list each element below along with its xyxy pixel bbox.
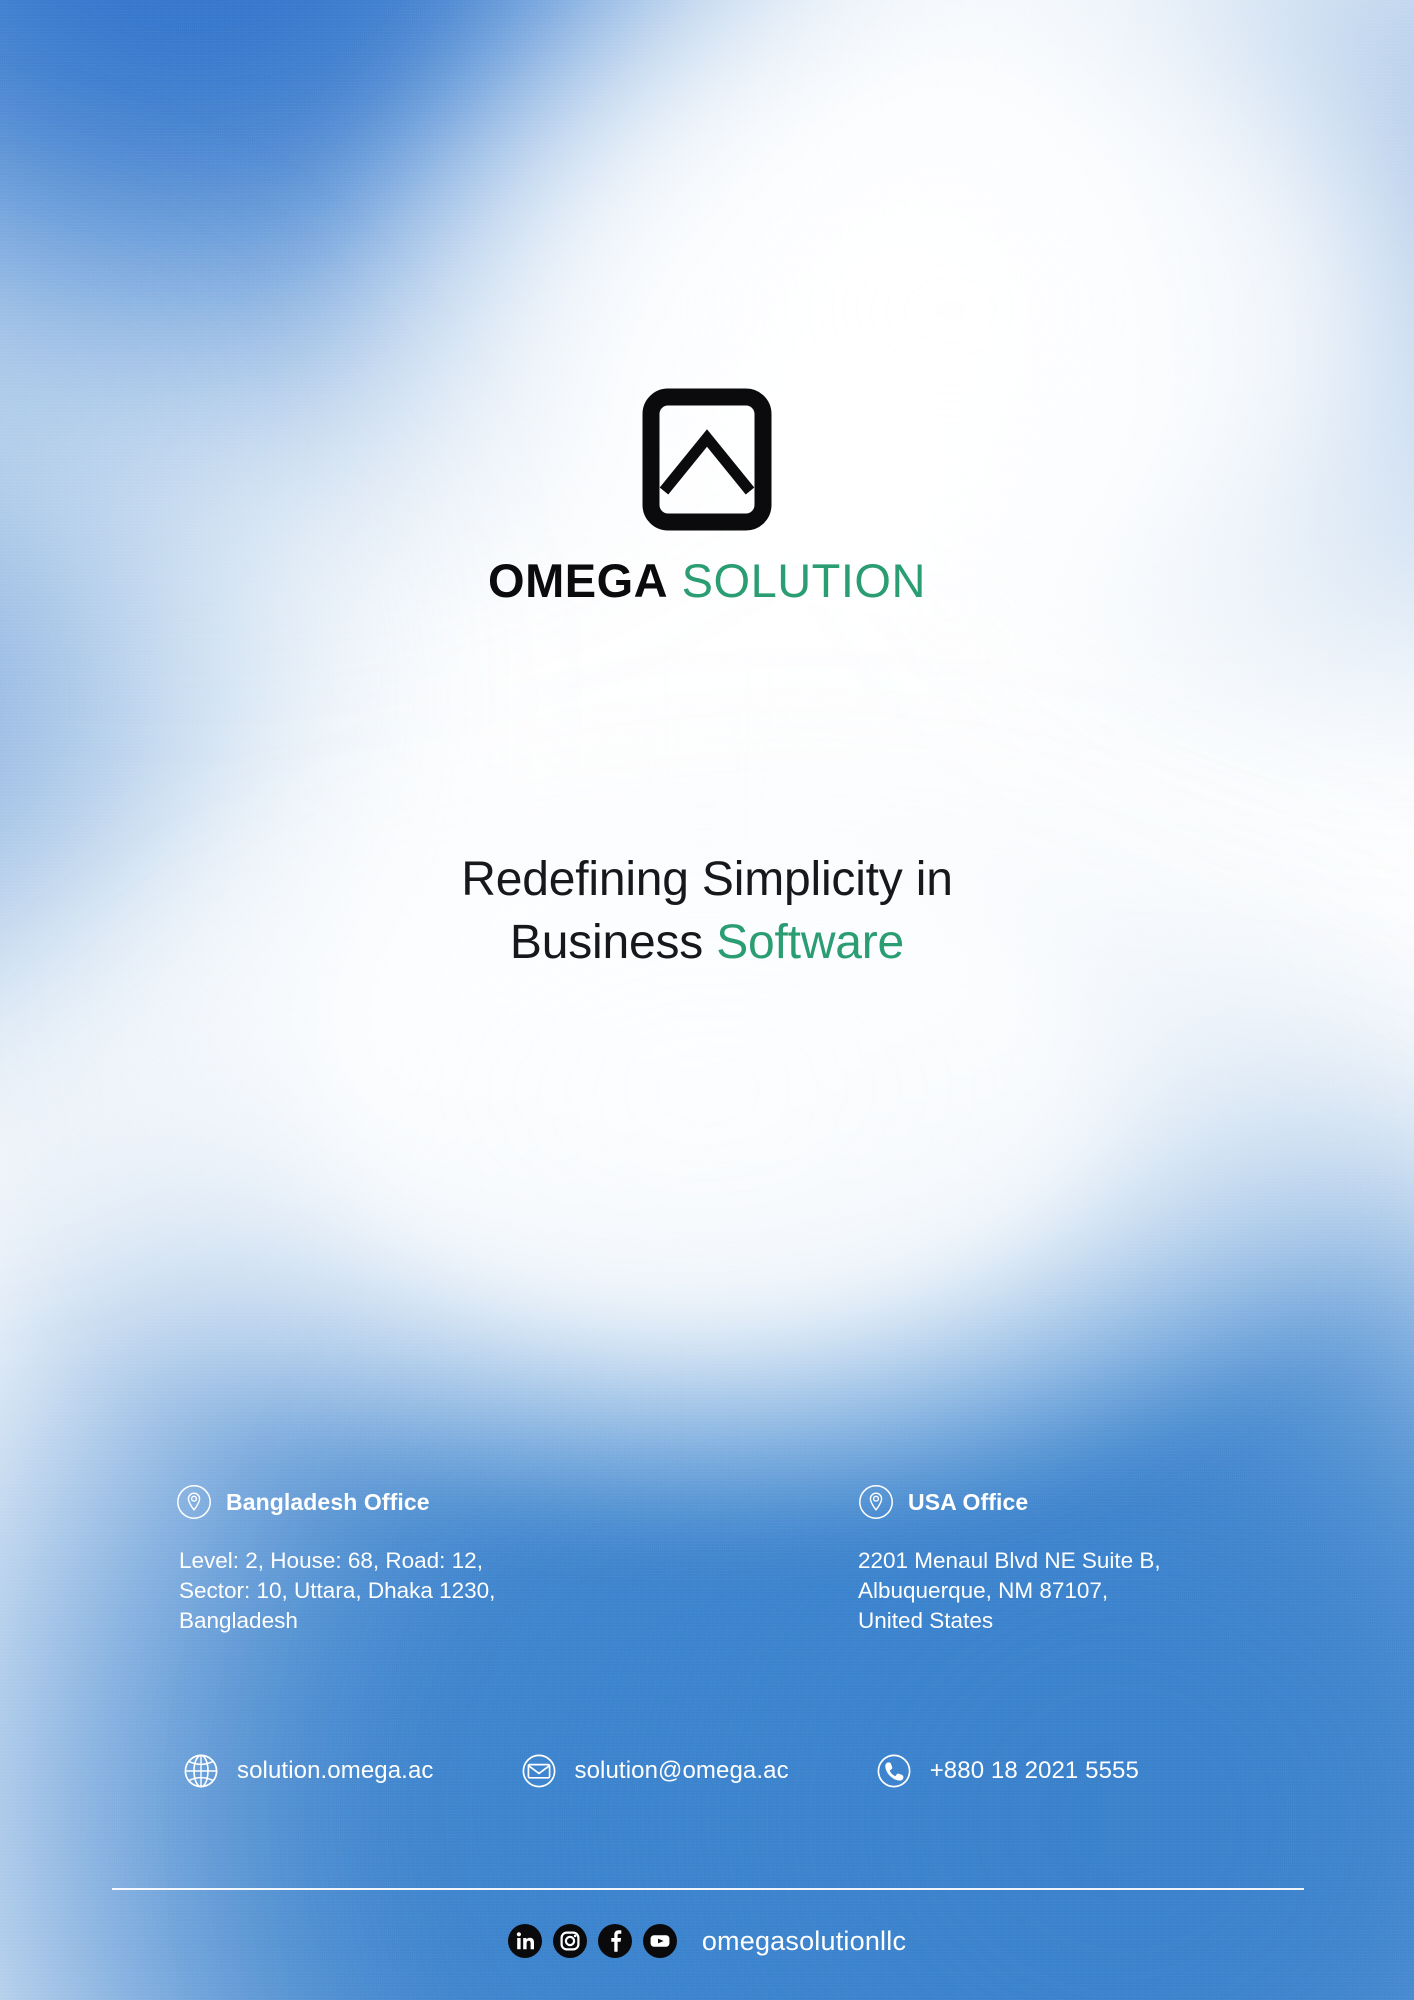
linkedin-icon[interactable] bbox=[508, 1924, 542, 1958]
brand-wordmark: OMEGA SOLUTION bbox=[0, 557, 1414, 604]
office-address-line: Sector: 10, Uttara, Dhaka 1230, bbox=[179, 1576, 566, 1606]
contact-phone[interactable]: +880 18 2021 5555 bbox=[875, 1752, 1139, 1790]
email-label: solution@omega.ac bbox=[575, 1757, 789, 1785]
office-title: USA Office bbox=[908, 1489, 1028, 1516]
office-address: Level: 2, House: 68, Road: 12, Sector: 1… bbox=[179, 1546, 566, 1636]
social-handle: omegasolutionllc bbox=[702, 1926, 906, 1957]
envelope-icon bbox=[520, 1752, 558, 1790]
contact-website[interactable]: solution.omega.ac bbox=[182, 1752, 434, 1790]
office-address-line: Albuquerque, NM 87107, bbox=[858, 1576, 1248, 1606]
social-footer: omegasolutionllc bbox=[0, 1924, 1414, 1958]
office-address-line: United States bbox=[858, 1606, 1248, 1636]
office-address: 2201 Menaul Blvd NE Suite B, Albuquerque… bbox=[858, 1546, 1248, 1636]
tagline-line-2-accent: Software bbox=[716, 916, 904, 969]
contact-row: solution.omega.ac solution@omega.ac +880… bbox=[182, 1752, 1139, 1790]
office-address-line: Level: 2, House: 68, Road: 12, bbox=[179, 1546, 566, 1576]
office-header: Bangladesh Office bbox=[176, 1484, 566, 1520]
tagline-line-2: Business Software bbox=[0, 911, 1414, 974]
location-pin-icon bbox=[176, 1484, 212, 1520]
office-address-line: Bangladesh bbox=[179, 1606, 566, 1636]
office-bangladesh: Bangladesh Office Level: 2, House: 68, R… bbox=[176, 1484, 566, 1636]
contact-email[interactable]: solution@omega.ac bbox=[520, 1752, 789, 1790]
tagline-line-2-plain: Business bbox=[510, 916, 716, 969]
footer-divider bbox=[112, 1888, 1304, 1890]
instagram-icon[interactable] bbox=[553, 1924, 587, 1958]
phone-icon bbox=[875, 1752, 913, 1790]
tagline: Redefining Simplicity in Business Softwa… bbox=[0, 848, 1414, 975]
office-locations: Bangladesh Office Level: 2, House: 68, R… bbox=[176, 1484, 1256, 1636]
office-title: Bangladesh Office bbox=[226, 1489, 430, 1516]
poster-page: OMEGA SOLUTION Redefining Simplicity in … bbox=[0, 0, 1414, 2000]
phone-label: +880 18 2021 5555 bbox=[930, 1757, 1139, 1785]
facebook-icon[interactable] bbox=[598, 1924, 632, 1958]
wordmark-omega: OMEGA bbox=[488, 554, 668, 607]
office-header: USA Office bbox=[858, 1484, 1248, 1520]
youtube-icon[interactable] bbox=[643, 1924, 677, 1958]
office-address-line: 2201 Menaul Blvd NE Suite B, bbox=[858, 1546, 1248, 1576]
tagline-line-1: Redefining Simplicity in bbox=[0, 848, 1414, 911]
brand-logo-block: OMEGA SOLUTION bbox=[0, 388, 1414, 604]
omega-square-peak-logo-icon bbox=[642, 388, 772, 531]
website-label: solution.omega.ac bbox=[237, 1757, 434, 1785]
location-pin-icon bbox=[858, 1484, 894, 1520]
social-icon-list bbox=[508, 1924, 677, 1958]
office-usa: USA Office 2201 Menaul Blvd NE Suite B, … bbox=[858, 1484, 1248, 1636]
globe-icon bbox=[182, 1752, 220, 1790]
wordmark-solution: SOLUTION bbox=[682, 554, 926, 607]
